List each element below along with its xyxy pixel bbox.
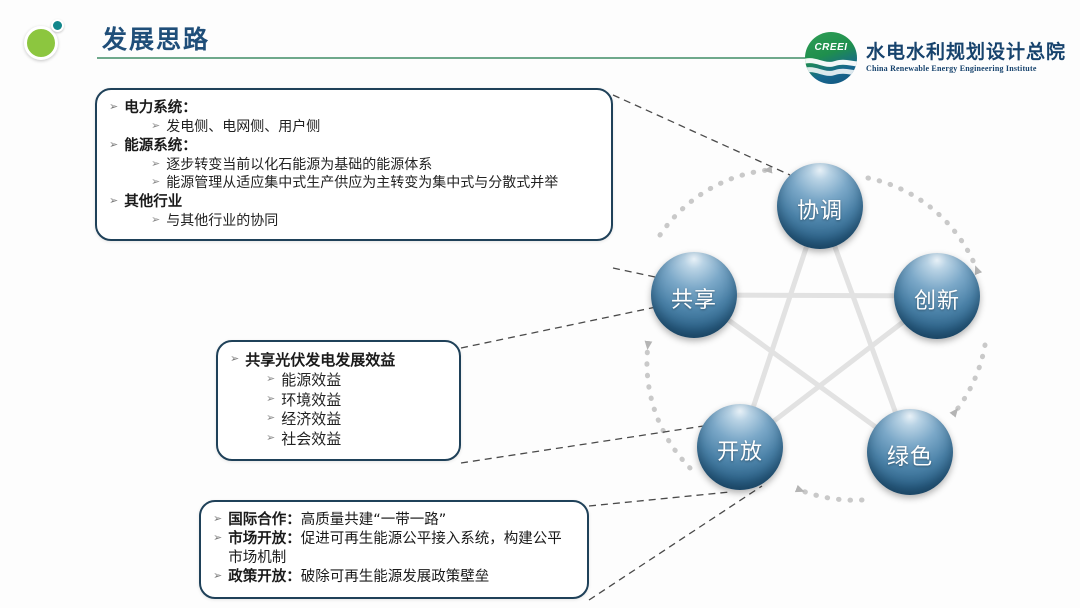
node-label: 共享 (671, 282, 717, 314)
list-item-label: 与其他行业的协同 (166, 212, 278, 230)
list-item: ➢ 能源效益 (266, 371, 445, 391)
node-kaifang[interactable]: 开放 (697, 404, 783, 490)
bullet-arrow-icon: ➢ (230, 351, 239, 368)
bullet-arrow-icon: ➢ (151, 212, 160, 229)
bullet-arrow-icon: ➢ (151, 118, 160, 135)
bullet-arrow-icon: ➢ (266, 430, 275, 447)
node-label: 创新 (914, 283, 960, 315)
bullet-arrow-icon: ➢ (266, 371, 275, 388)
list-item-label: 逐步转变当前以化石能源为基础的能源体系 (166, 156, 432, 174)
list-item-label: 社会效益 (281, 430, 341, 450)
list-item-label: 其他行业 (124, 193, 182, 212)
pentagon-cycle-diagram: 协调 创新 绿色 开放 共享 (610, 120, 1050, 540)
list-item: ➢ 经济效益 (266, 410, 445, 430)
bullet-arrow-icon: ➢ (109, 99, 118, 116)
list-item-lead: 政策开放： (228, 569, 301, 585)
bullet-arrow-icon: ➢ (151, 174, 160, 191)
node-label: 绿色 (887, 439, 933, 471)
list-item-label: 能源系统： (124, 137, 197, 156)
bullet-arrow-icon: ➢ (266, 391, 275, 408)
bullet-arrow-icon: ➢ (213, 511, 222, 528)
list-item-label: 破除可再生能源发展政策壁垒 (301, 569, 490, 585)
node-chuangxin[interactable]: 创新 (894, 253, 980, 339)
list-item-label: 电力系统： (124, 99, 197, 118)
node-label: 协调 (797, 193, 843, 225)
list-item-label: 高质量共建“一带一路” (301, 512, 447, 528)
callout-benefits: ➢ 共享光伏发电发展效益 ➢ 能源效益 ➢ 环境效益 ➢ 经济效益 ➢ 社会效益 (216, 340, 461, 461)
list-item: ➢ 电力系统： (109, 99, 597, 118)
bullet-arrow-icon: ➢ (213, 568, 222, 585)
list-item-lead: 市场开放： (228, 531, 301, 547)
list-item-label: 发电侧、电网侧、用户侧 (166, 118, 320, 136)
node-lvse[interactable]: 绿色 (867, 409, 953, 495)
list-item: ➢ 与其他行业的协同 (151, 212, 597, 230)
list-item: ➢ 社会效益 (266, 430, 445, 450)
list-item: ➢ 能源管理从适应集中式生产供应为主转变为集中式与分散式并举 (151, 174, 597, 192)
callout-systems: ➢ 电力系统： ➢ 发电侧、电网侧、用户侧 ➢ 能源系统： ➢ 逐步转变当前以化… (95, 88, 613, 241)
node-label: 开放 (717, 434, 763, 466)
list-item: ➢ 国际合作：高质量共建“一带一路” (213, 511, 573, 530)
callout-openness: ➢ 国际合作：高质量共建“一带一路” ➢ 市场开放：促进可再生能源公平接入系统，… (199, 500, 589, 599)
list-item-label: 能源管理从适应集中式生产供应为主转变为集中式与分散式并举 (166, 174, 558, 192)
list-item-label: 环境效益 (281, 391, 341, 411)
node-xietiao[interactable]: 协调 (777, 163, 863, 249)
bullet-arrow-icon: ➢ (266, 410, 275, 427)
list-item: ➢ 能源系统： (109, 137, 597, 156)
list-item-label: 能源效益 (281, 371, 341, 391)
list-item-text: 国际合作：高质量共建“一带一路” (228, 511, 446, 530)
list-item: ➢ 政策开放：破除可再生能源发展政策壁垒 (213, 568, 573, 587)
list-item-label: 经济效益 (281, 410, 341, 430)
bullet-arrow-icon: ➢ (109, 193, 118, 210)
list-item: ➢ 共享光伏发电发展效益 (230, 351, 445, 371)
list-item-label: 共享光伏发电发展效益 (245, 351, 395, 371)
slide-canvas: 发展思路 CREEI 水电水利规划设计总院 China Renewable En… (0, 0, 1080, 608)
list-item-text: 市场开放：促进可再生能源公平接入系统，构建公平市场机制 (228, 530, 573, 568)
list-item: ➢ 逐步转变当前以化石能源为基础的能源体系 (151, 156, 597, 174)
list-item-text: 政策开放：破除可再生能源发展政策壁垒 (228, 568, 489, 587)
list-item: ➢ 环境效益 (266, 391, 445, 411)
node-gongxiang[interactable]: 共享 (651, 252, 737, 338)
bullet-arrow-icon: ➢ (109, 137, 118, 154)
list-item-lead: 国际合作： (228, 512, 301, 528)
list-item: ➢ 发电侧、电网侧、用户侧 (151, 118, 597, 136)
bullet-arrow-icon: ➢ (151, 156, 160, 173)
list-item: ➢ 市场开放：促进可再生能源公平接入系统，构建公平市场机制 (213, 530, 573, 568)
bullet-arrow-icon: ➢ (213, 530, 222, 547)
list-item: ➢ 其他行业 (109, 193, 597, 212)
